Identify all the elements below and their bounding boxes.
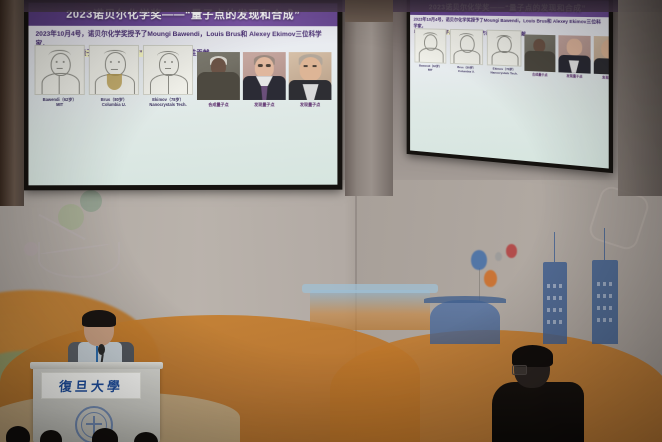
audience-head <box>40 430 62 442</box>
screenshot-root: 2023诺贝尔化学奖——“量子点的发现和合成” 2023年10月4号，诺贝尔化学… <box>0 0 662 442</box>
tower-left <box>543 262 567 344</box>
molecule-node-pink <box>24 242 38 256</box>
balloon-blue <box>471 250 487 270</box>
ekimov-sketch-portrait <box>143 45 193 95</box>
podium-name-panel: 復旦大學 <box>41 372 141 399</box>
ekimov-photo-right <box>594 36 609 75</box>
second-person-body <box>492 382 584 442</box>
brus-sketch-portrait <box>89 45 139 95</box>
brus-photo <box>243 52 286 100</box>
tower-antenna-right <box>604 228 605 260</box>
slide-right: 2023诺贝尔化学奖——“量子点的发现和合成” 2023年10月4号，诺贝尔化学… <box>410 0 609 169</box>
audience-head <box>6 426 30 442</box>
right-wall-edge <box>618 0 662 196</box>
sketch-group-right: Bawendi（62岁） MIT Brus（80岁） Columbia U. <box>414 28 521 76</box>
sketch-group: Bawendi（62岁） MIT <box>35 45 193 107</box>
laureate-sketch-cell: Brus（80岁） Columbia U. <box>450 29 483 75</box>
photo-group-right: 合成量子点 发现量子点 <box>524 34 608 81</box>
second-person-hair <box>512 345 553 367</box>
laureate-sketch-cell: Bawendi（62岁） MIT <box>35 45 85 107</box>
audience-head <box>92 428 118 442</box>
balloon-red <box>506 244 517 258</box>
laureate-caption: Bawendi（62岁） MIT <box>43 97 77 107</box>
photo-caption: 合成量子点 <box>532 73 547 78</box>
laureate-photo-cell: 合成量子点 <box>197 52 240 107</box>
bawendi-photo-right <box>524 34 555 72</box>
laureate-affiliation: Columbia U. <box>457 70 475 75</box>
tower-right <box>592 260 618 344</box>
laureate-affiliation: Columbia U. <box>101 102 127 107</box>
laureate-caption: Brus（80岁） Columbia U. <box>101 97 127 107</box>
laureate-sketch-cell: Brus（80岁） Columbia U. <box>89 45 139 107</box>
second-person <box>492 348 588 442</box>
audience-silhouettes <box>0 420 170 442</box>
projection-screen-left[interactable]: 2023诺贝尔化学奖——“量子点的发现和合成” 2023年10月4号，诺贝尔化学… <box>23 0 342 190</box>
photo-caption: 发现量子点 <box>566 75 582 80</box>
ekimov-photo <box>289 52 332 100</box>
left-wall-post <box>0 0 24 206</box>
photo-caption: 发现量子点 <box>300 102 320 107</box>
hall-building <box>310 290 430 330</box>
slide-left: 2023诺贝尔化学奖——“量子点的发现和合成” 2023年10月4号，诺贝尔化学… <box>28 3 337 186</box>
bawendi-photo <box>197 52 240 100</box>
podium-label: 復旦大學 <box>58 376 123 395</box>
bawendi-sketch-portrait <box>35 45 85 95</box>
slide-portrait-row-right: Bawendi（62岁） MIT Brus（80岁） Columbia U. <box>410 28 609 80</box>
laureate-affiliation: Nanocrystals Tech. <box>149 102 186 107</box>
laureate-photo-cell: 发现量子点 <box>243 52 286 107</box>
photo-caption: 发现量子点 <box>254 102 274 107</box>
laureate-sketch-cell: Ekimov（78岁） Nanocrystals Tech. <box>487 30 522 77</box>
photo-group: 合成量子点 发现量子点 <box>197 52 331 107</box>
laureate-photo-cell: 发现量子点 <box>289 52 332 107</box>
photo-caption: 发现量子点 <box>602 76 609 81</box>
laureate-affiliation: MIT <box>43 102 77 107</box>
balloon-gray <box>495 252 502 261</box>
glasses-icon <box>512 365 527 375</box>
laureate-sketch-cell: Bawendi（62岁） MIT <box>414 28 446 73</box>
hall-roof <box>302 284 438 293</box>
ekimov-sketch-portrait-right <box>487 30 522 67</box>
molecule-node-green-dark <box>80 190 102 212</box>
center-column <box>345 0 393 196</box>
bawendi-sketch-portrait-right <box>414 28 446 63</box>
molecule-graphic <box>22 198 172 293</box>
tower-antenna-left <box>554 232 555 262</box>
laureate-caption: Ekimov（78岁） Nanocrystals Tech. <box>491 67 518 76</box>
laureate-photo-cell: 发现量子点 <box>594 36 609 81</box>
laureate-caption: Bawendi（62岁） MIT <box>419 65 442 73</box>
ceiling-band <box>0 0 662 12</box>
laureate-sketch-cell: Ekimov（78岁） Nanocrystals Tech. <box>143 45 193 107</box>
balloon-orange <box>484 270 497 287</box>
laureate-caption: Ekimov（78岁） Nanocrystals Tech. <box>149 97 186 107</box>
brus-photo-right <box>558 35 590 73</box>
photo-caption: 合成量子点 <box>208 102 228 107</box>
projection-screen-right[interactable]: 2023诺贝尔化学奖——“量子点的发现和合成” 2023年10月4号，诺贝尔化学… <box>407 0 613 173</box>
laureate-photo-cell: 合成量子点 <box>524 34 555 78</box>
pagoda-roof <box>424 296 506 303</box>
speaker-hair <box>82 310 116 327</box>
laureate-photo-cell: 发现量子点 <box>558 35 590 80</box>
audience-head <box>134 432 158 442</box>
pagoda-building <box>430 300 500 344</box>
slide-portrait-row: Bawendi（62岁） MIT <box>28 45 337 107</box>
molecule-arc <box>38 242 120 278</box>
brus-sketch-portrait-right <box>450 29 483 65</box>
laureate-caption: Brus（80岁） Columbia U. <box>457 66 475 74</box>
laureate-affiliation: Nanocrystals Tech. <box>491 71 518 76</box>
center-column-cap <box>345 0 393 22</box>
podium-top-surface <box>30 362 163 369</box>
